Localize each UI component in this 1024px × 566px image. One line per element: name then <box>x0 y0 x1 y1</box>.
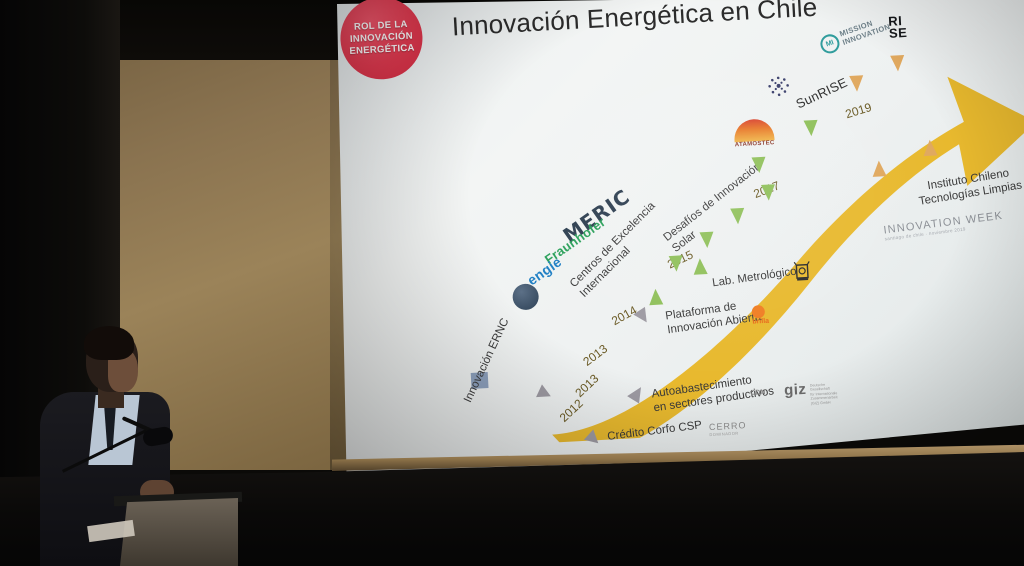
giz-sub: Deutsche Gesellschaft für Internationale… <box>810 382 838 405</box>
giz-logo: giz Deutsche Gesellschaft für Internatio… <box>784 381 807 399</box>
badge-label: ROL DE LA INNOVACIÓN ENERGÉTICA <box>348 19 415 58</box>
rise-logo: RI SE <box>888 15 908 40</box>
slide-title: Innovación Energética en Chile <box>451 0 818 42</box>
atamostec-mark <box>733 118 774 142</box>
arrow-plataforma-icon <box>648 288 663 305</box>
arrow-desafios-2-icon <box>699 232 714 249</box>
slide-content: ROL DE LA INNOVACIÓN ENERGÉTICA Innovaci… <box>330 0 1024 463</box>
arrow-sunrise-icon <box>804 120 819 137</box>
arrow-innovation-week-icon <box>923 139 938 156</box>
arrow-mission-innovation-icon <box>849 75 864 92</box>
brilla-text: brilla <box>752 318 769 326</box>
screenshot-root: ROL DE LA INNOVACIÓN ENERGÉTICA Innovaci… <box>0 0 1024 566</box>
podium <box>120 498 238 566</box>
mission-innovation-text: MISSION INNOVATION <box>839 14 892 46</box>
arrow-atamostec-icon <box>751 157 766 174</box>
cdn-text: CDN <box>750 389 766 397</box>
presenter-hair <box>84 326 134 360</box>
arrow-rise-icon <box>890 55 905 72</box>
projection-screen: ROL DE LA INNOVACIÓN ENERGÉTICA Innovaci… <box>330 0 1024 494</box>
rol-innovacion-badge: ROL DE LA INNOVACIÓN ENERGÉTICA <box>338 0 424 81</box>
arrow-instituto-icon <box>872 160 887 177</box>
sunrise-icon <box>765 73 792 100</box>
cdn-logo: CDN <box>750 389 766 397</box>
brilla-logo: brilla <box>751 305 769 326</box>
lab-metrologico-logo <box>793 260 811 283</box>
cerro-dominador-logo: CERRO DOMINADOR <box>709 420 747 437</box>
arrow-desafios-3-icon <box>730 208 745 225</box>
atamostec-logo: ATAMOSTEC <box>733 118 774 148</box>
cerro-dominador-sub: DOMINADOR <box>709 430 747 437</box>
brilla-mark <box>751 305 765 319</box>
giz-text: giz <box>784 381 807 399</box>
arrow-desafios-4-icon <box>761 184 776 201</box>
arrow-desafios-1-icon <box>669 255 684 272</box>
arrow-lab-icon <box>693 258 708 275</box>
